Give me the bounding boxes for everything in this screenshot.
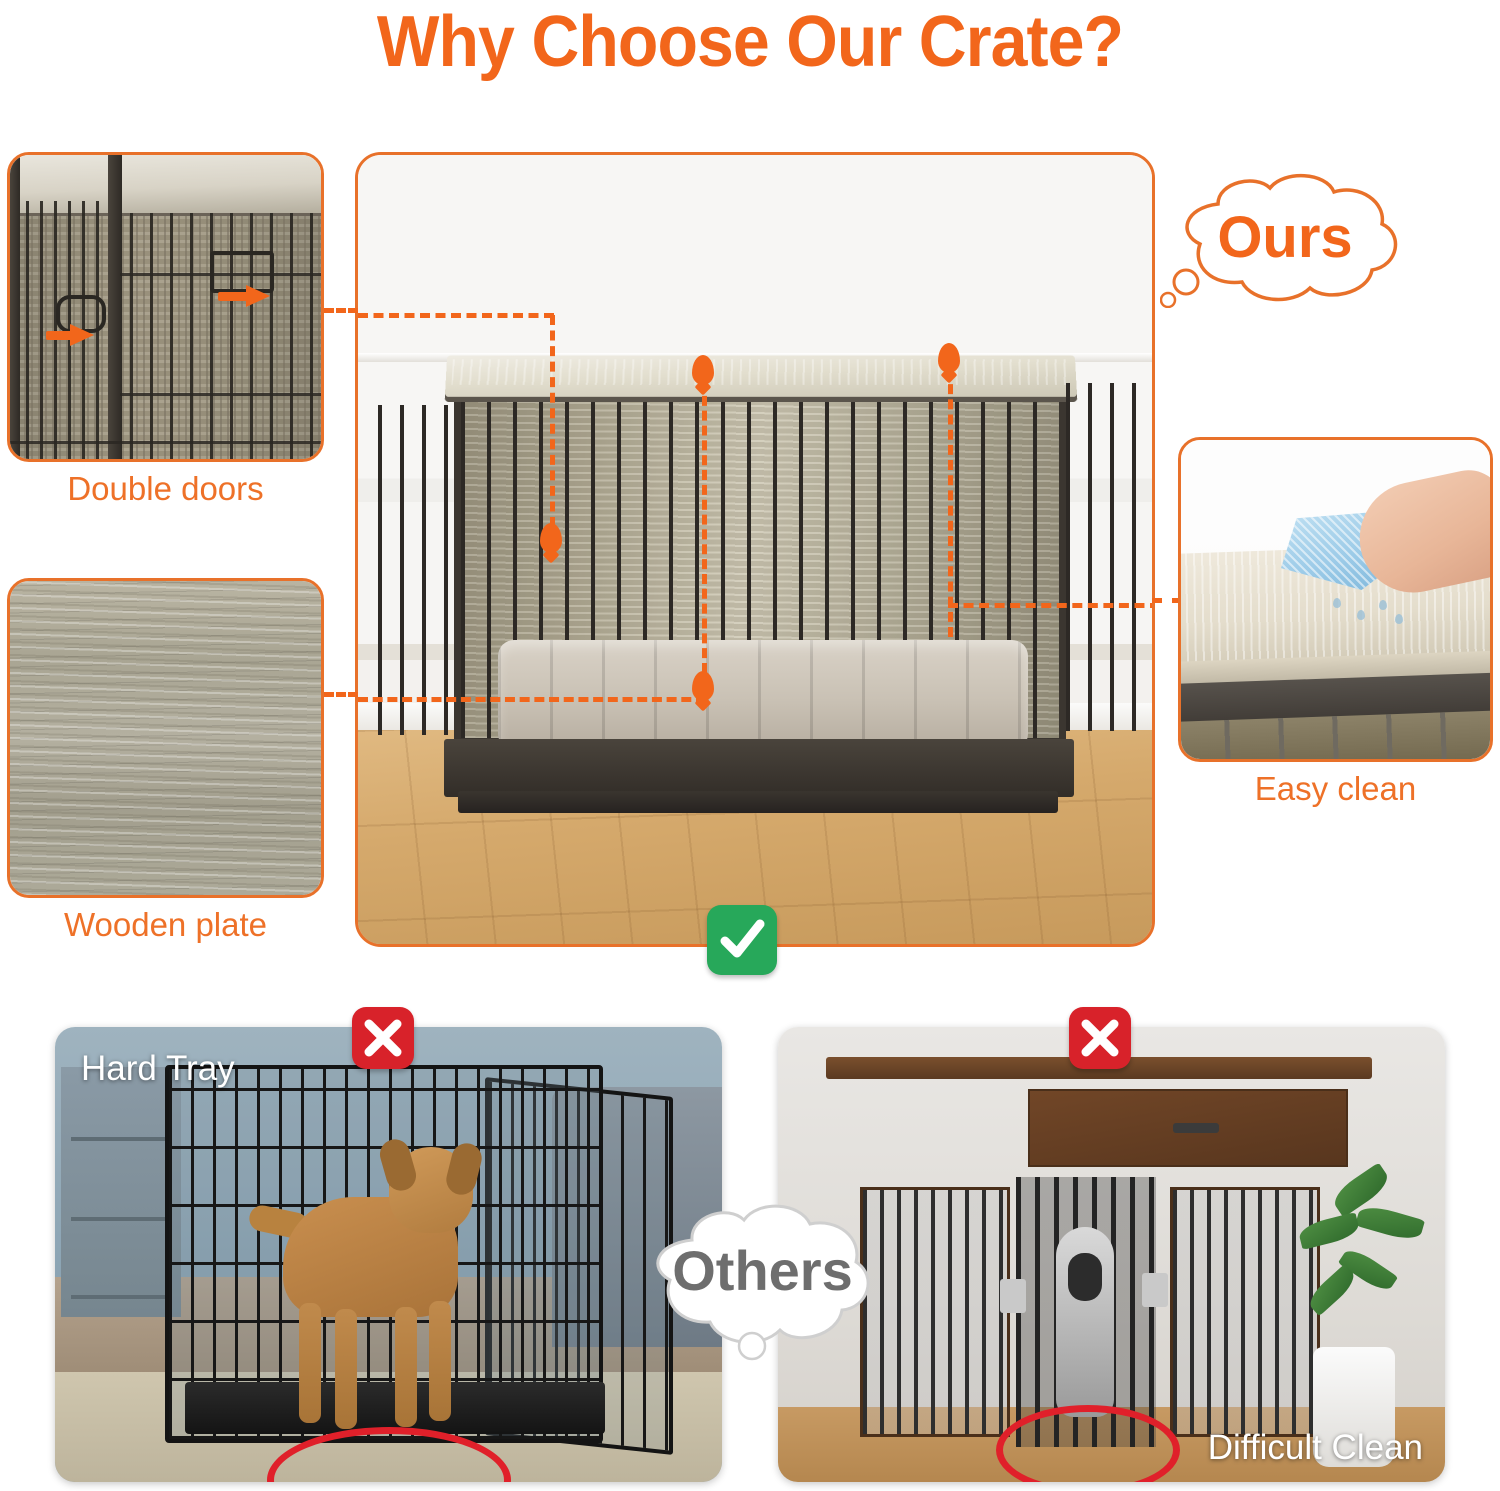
- crate-base-frame: [444, 739, 1074, 797]
- hand-wiping-cloth-icon: [1181, 440, 1490, 759]
- feature-caption-easy-clean: Easy clean: [1178, 770, 1493, 808]
- connector-double-doors: [324, 308, 358, 313]
- caster-wheel: [548, 805, 596, 863]
- latch-arrow-right-icon: [246, 285, 270, 307]
- overlay-label-hard-tray: Hard Tray: [81, 1049, 235, 1089]
- connector-wooden-plate: [324, 692, 358, 697]
- feature-caption-double-doors: Double doors: [7, 470, 324, 508]
- hero-product-photo: [355, 152, 1155, 947]
- others-speech-bubble: Others: [640, 1196, 885, 1364]
- feature-panel-easy-clean: [1178, 437, 1493, 762]
- ours-bubble-label: Ours: [1160, 208, 1410, 268]
- feature-caption-wooden-plate: Wooden plate: [7, 906, 324, 944]
- cross-badge: [352, 1007, 414, 1069]
- caster-wheel: [414, 759, 462, 817]
- check-badge: [707, 905, 777, 975]
- feature-panel-double-doors: [7, 152, 324, 462]
- ours-speech-bubble: Ours: [1160, 168, 1410, 308]
- page-title: Why Choose Our Crate?: [60, 2, 1440, 82]
- crate-wooden-top: [445, 355, 1077, 396]
- wood-grain-swatch-icon: [10, 581, 321, 895]
- cross-badge: [1069, 1007, 1131, 1069]
- potted-plant-icon: [1283, 1167, 1423, 1467]
- callout-pin-door: [540, 523, 562, 553]
- dog-icon: [283, 1113, 473, 1413]
- dog-icon: [1046, 1227, 1126, 1427]
- caster-wheel: [1030, 767, 1078, 825]
- crate-double-door-closeup-icon: [10, 155, 321, 459]
- others-bubble-label: Others: [640, 1242, 885, 1300]
- overlay-label-difficult-clean: Difficult Clean: [1208, 1428, 1423, 1468]
- crate-cushion: [498, 640, 1028, 750]
- background-shelf: [61, 1067, 181, 1317]
- comparison-photo-hard-tray: Hard Tray: [55, 1027, 722, 1482]
- drawer-handle-icon: [1173, 1123, 1219, 1133]
- latch-arrow-left-icon: [70, 324, 94, 346]
- feature-panel-wooden-plate: [7, 578, 324, 898]
